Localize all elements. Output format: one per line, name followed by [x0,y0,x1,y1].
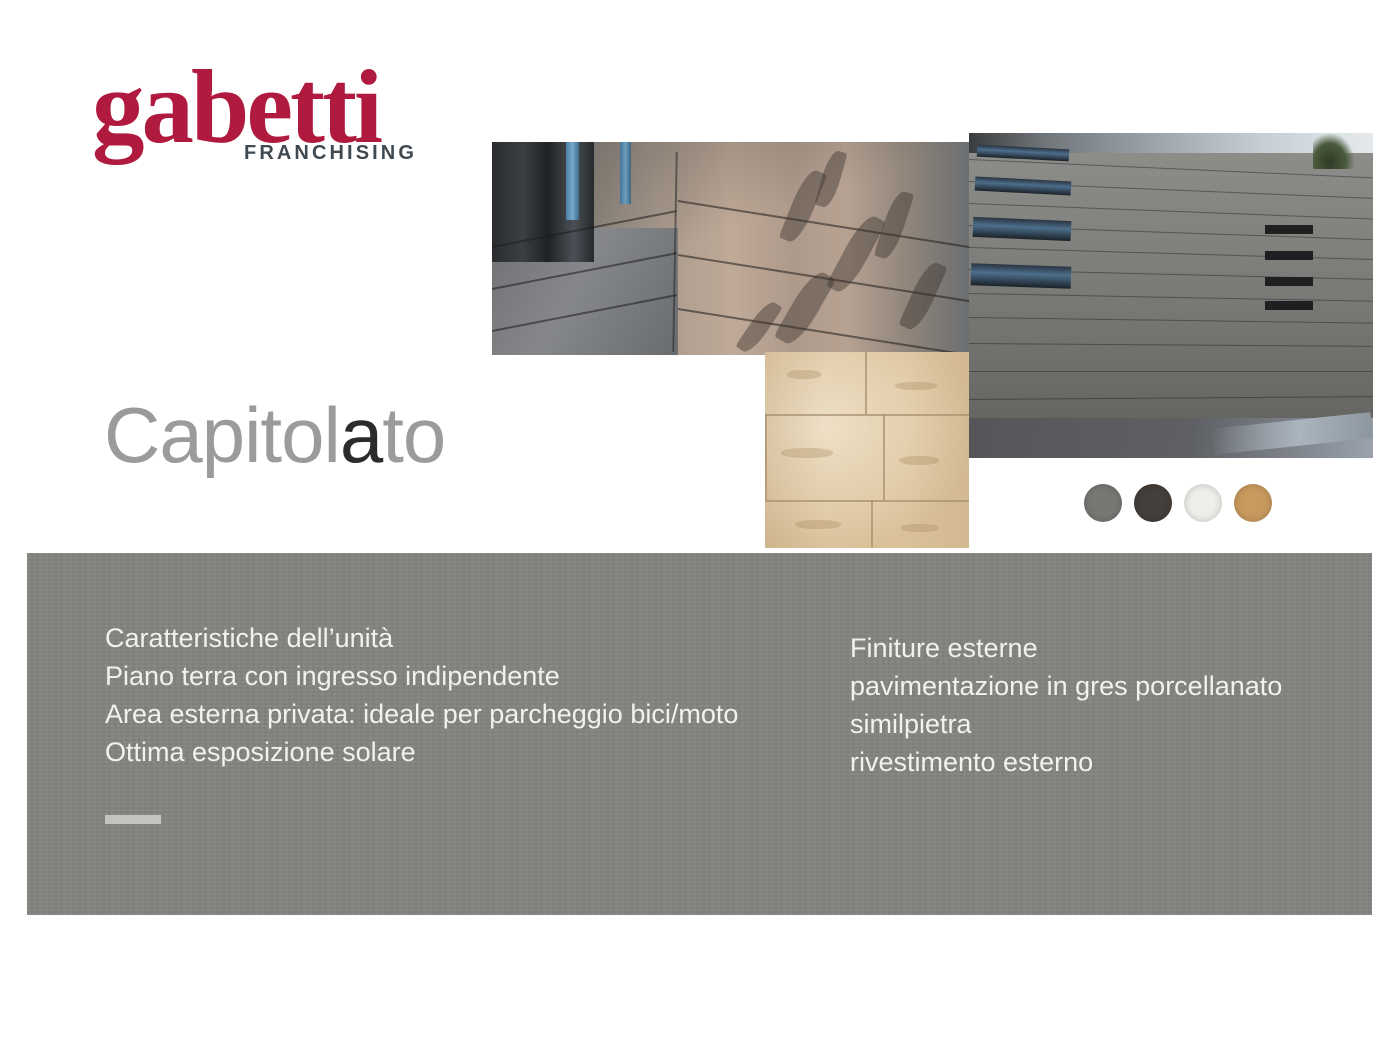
swatch-bianco[interactable] [1184,484,1222,522]
tile-speck [899,456,939,465]
swatch-antracite[interactable] [1134,484,1172,522]
tile-grout-line [765,414,969,416]
tile-grout-line [871,500,873,548]
spec-columns: Caratteristiche dell’unitàPiano terra co… [27,553,1372,915]
tile-speck [781,448,833,458]
tile-speck [787,370,821,379]
swatch-ocra[interactable] [1234,484,1272,522]
spec-line: pavimentazione in gres porcellanato [850,667,1282,705]
spec-line: Finiture esterne [850,629,1282,667]
spec-divider-rule [105,815,161,824]
photo-long-wall [969,133,1373,458]
photo-facade-corner [492,142,970,355]
spec-line: similpietra [850,705,1282,743]
swatch-grigio[interactable] [1084,484,1122,522]
tile-speck [795,520,841,529]
wall-joint-line [969,396,1373,400]
facade-blue-post-2 [620,142,631,204]
tile-speck [895,382,937,390]
facade-blue-post-1 [566,142,579,220]
facade-leaf-shadow [735,298,782,355]
wall-joint-line [969,371,1373,372]
page-title: Capitolato [104,396,445,474]
spec-line: Area esterna privata: ideale per parcheg… [105,695,738,733]
wall-window [975,176,1072,195]
wall-joint-line [969,317,1373,324]
wall-joint-line [969,343,1373,347]
tile-grout-line [883,414,885,500]
spec-line: rivestimento esterno [850,743,1282,781]
material-swatch-row [1084,484,1272,522]
spec-column-right: Finiture esternepavimentazione in gres p… [850,629,1282,781]
spec-line: Piano terra con ingresso indipendente [105,657,738,695]
spec-line: Ottima esposizione solare [105,733,738,771]
wall-window [973,217,1072,241]
facade-leaf-shadow [774,267,837,349]
page-title-prefix: Capitol [104,391,340,479]
wall-vent-slot [1265,251,1313,260]
tile-grout-line [765,500,969,502]
wall-vent-slot [1265,277,1313,286]
spec-column-left: Caratteristiche dell’unitàPiano terra co… [105,619,738,771]
wall-joint-line [969,203,1373,220]
wall-vent-slot [1265,301,1313,310]
spec-line: Caratteristiche dell’unità [105,619,738,657]
wall-window [971,263,1072,288]
wall-tree [1313,133,1355,169]
facade-joint-line [678,308,970,355]
brand-subtitle: FRANCHISING [244,142,417,165]
tile-speck [901,524,939,532]
wall-vent-slot [1265,225,1313,234]
page-title-accent: a [340,391,382,479]
tile-grout-line [765,414,767,500]
spec-panel: Caratteristiche dell’unitàPiano terra co… [27,553,1372,915]
photo-stone-tile [765,352,969,548]
tile-grout-line [865,352,867,414]
page-title-suffix: to [382,391,445,479]
brand-logo: gabetti FRANCHISING [92,58,422,173]
